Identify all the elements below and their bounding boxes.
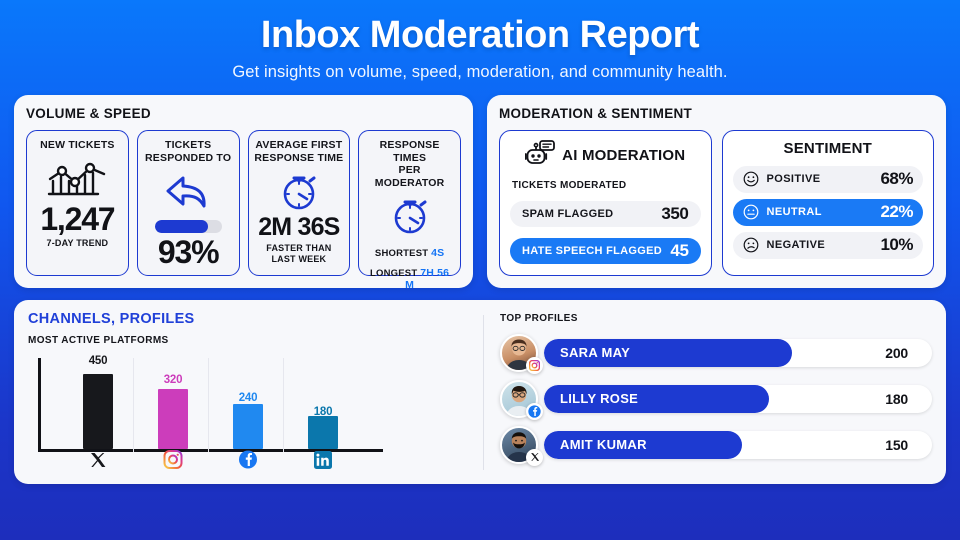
kpi-value: 1,247	[40, 203, 114, 235]
top-profiles-title: TOP PROFILES	[500, 313, 932, 324]
ai-moderation-card[interactable]: AI MODERATION TICKETS MODERATED SPAM FLA…	[499, 130, 712, 276]
channels-title: CHANNELS, PROFILES	[28, 311, 483, 327]
sentiment-label: NEUTRAL	[767, 206, 822, 218]
chart-gridline	[283, 358, 284, 452]
x-twitter-icon[interactable]	[89, 451, 107, 474]
page-title: Inbox Moderation Report	[0, 16, 960, 56]
kpi-foot-line2: LAST WEEK	[266, 254, 331, 265]
avatar	[500, 334, 538, 372]
reply-arrow-icon	[164, 169, 212, 214]
moderation-sentiment-cards: AI MODERATION TICKETS MODERATED SPAM FLA…	[499, 130, 934, 276]
sentiment-card[interactable]: SENTIMENT POSITIVE 68%	[722, 130, 935, 276]
kpi-value: 93%	[158, 236, 218, 268]
kpi-card-tickets-responded[interactable]: TICKETS RESPONDED TO 93%	[137, 130, 240, 276]
profile-score-bar[interactable]: AMIT KUMAR 150	[544, 431, 932, 459]
kpi-label-line1: RESPONSE TIMES	[364, 139, 455, 165]
x-twitter-icon	[526, 449, 543, 466]
instagram-icon[interactable]	[164, 450, 183, 474]
sentiment-row-neutral[interactable]: NEUTRAL 22%	[733, 199, 924, 226]
panel-divider	[483, 315, 484, 470]
spam-flagged-value: 350	[661, 204, 688, 224]
sentiment-value: 68%	[880, 169, 913, 189]
neutral-face-icon	[743, 204, 759, 220]
kpi-label-line1: AVERAGE FIRST	[254, 139, 343, 152]
top-profiles-section: TOP PROFILES	[500, 311, 932, 474]
kpi-card-avg-first-response[interactable]: AVERAGE FIRST RESPONSE TIME	[248, 130, 351, 276]
kpi-value: 2M 36S	[258, 215, 339, 240]
kpi-label-line2: PER MODERATOR	[364, 164, 455, 190]
chart-gridline	[133, 358, 134, 452]
kpi-footnote: 7-DAY TREND	[47, 238, 109, 249]
linkedin-icon[interactable]	[314, 451, 332, 474]
sentiment-row-positive[interactable]: POSITIVE 68%	[733, 166, 924, 193]
list-item[interactable]: LILLY ROSE 180	[500, 380, 932, 418]
sentiment-value: 10%	[880, 235, 913, 255]
profile-name: LILLY ROSE	[560, 391, 638, 406]
response-progress-bar	[155, 220, 222, 233]
chart-bar-value: 180	[314, 406, 333, 418]
robot-chat-icon	[525, 140, 555, 172]
profile-bar-fill: AMIT KUMAR	[544, 431, 742, 459]
kpi-foot-line1: FASTER THAN	[266, 243, 331, 254]
spam-flagged-label: SPAM FLAGGED	[522, 208, 613, 220]
ai-moderation-header: AI MODERATION	[510, 140, 701, 172]
volume-speed-title: VOLUME & SPEED	[26, 106, 461, 121]
avatar	[500, 426, 538, 464]
stopwatch-icon	[389, 195, 431, 237]
most-active-platforms-chart: 450 320 240 180	[38, 356, 383, 474]
profile-bar-fill: LILLY ROSE	[544, 385, 769, 413]
chart-bar-instagram[interactable]	[158, 389, 188, 449]
page-subtitle: Get insights on volume, speed, moderatio…	[0, 63, 960, 82]
sentiment-label: NEGATIVE	[767, 239, 826, 251]
shortest-label: SHORTEST	[375, 248, 428, 259]
longest-label: LONGEST	[370, 268, 417, 279]
profile-bar-fill: SARA MAY	[544, 339, 792, 367]
facebook-icon[interactable]	[239, 450, 258, 474]
bar-chart-trend-icon	[46, 157, 108, 203]
volume-speed-panel: VOLUME & SPEED NEW TICKETS	[14, 95, 473, 288]
profile-score-bar[interactable]: LILLY ROSE 180	[544, 385, 932, 413]
chart-y-axis	[38, 358, 41, 452]
chart-bar-facebook[interactable]	[233, 404, 263, 449]
sentiment-label: POSITIVE	[767, 173, 821, 185]
profile-name: SARA MAY	[560, 345, 630, 360]
instagram-icon	[526, 357, 543, 374]
hate-speech-flagged-value: 45	[670, 241, 688, 261]
chart-bar-x[interactable]	[83, 374, 113, 450]
sentiment-row-negative[interactable]: NEGATIVE 10%	[733, 232, 924, 259]
profile-value: 180	[885, 391, 908, 407]
moderation-sentiment-panel: MODERATION & SENTIMENT	[487, 95, 946, 288]
profile-name: AMIT KUMAR	[560, 437, 647, 452]
sentiment-value: 22%	[880, 202, 913, 222]
shortest-response-row: SHORTEST 4S	[375, 247, 444, 259]
sentiment-title: SENTIMENT	[733, 140, 924, 157]
kpi-label-line2: RESPONSE TIME	[254, 152, 343, 165]
frown-face-icon	[743, 237, 759, 253]
kpi-card-response-per-moderator[interactable]: RESPONSE TIMES PER MODERATOR	[358, 130, 461, 276]
top-panels-row: VOLUME & SPEED NEW TICKETS	[0, 95, 960, 288]
smile-face-icon	[743, 171, 759, 187]
facebook-icon	[526, 403, 543, 420]
kpi-label-line2: RESPONDED TO	[145, 152, 231, 165]
most-active-platforms-label: MOST ACTIVE PLATFORMS	[28, 335, 483, 346]
longest-response-row: LONGEST 7H 56 M	[364, 267, 455, 291]
kpi-label-line1: TICKETS	[145, 139, 231, 152]
chart-bar-linkedin[interactable]	[308, 416, 338, 450]
shortest-value: 4S	[431, 247, 444, 259]
channels-section: CHANNELS, PROFILES MOST ACTIVE PLATFORMS…	[28, 311, 483, 474]
moderation-sentiment-title: MODERATION & SENTIMENT	[499, 106, 934, 121]
list-item[interactable]: SARA MAY 200	[500, 334, 932, 372]
response-progress-fill	[155, 220, 209, 233]
profile-score-bar[interactable]: SARA MAY 200	[544, 339, 932, 367]
kpi-card-new-tickets[interactable]: NEW TICKETS	[26, 130, 129, 276]
chart-bar-value: 320	[164, 374, 183, 386]
avatar	[500, 380, 538, 418]
ai-moderation-title: AI MODERATION	[562, 147, 685, 164]
channels-profiles-panel: CHANNELS, PROFILES MOST ACTIVE PLATFORMS…	[14, 300, 946, 484]
kpi-label: NEW TICKETS	[40, 139, 115, 152]
tickets-moderated-label: TICKETS MODERATED	[512, 180, 701, 191]
profile-value: 150	[885, 437, 908, 453]
profile-value: 200	[885, 345, 908, 361]
hate-speech-flagged-row[interactable]: HATE SPEECH FLAGGED 45	[510, 238, 701, 264]
spam-flagged-row[interactable]: SPAM FLAGGED 350	[510, 201, 701, 227]
chart-gridline	[208, 358, 209, 452]
report-header: Inbox Moderation Report Get insights on …	[0, 0, 960, 82]
chart-bar-value: 450	[89, 355, 108, 367]
kpi-card-list: NEW TICKETS	[26, 130, 461, 276]
stopwatch-icon	[278, 169, 320, 215]
list-item[interactable]: AMIT KUMAR 150	[500, 426, 932, 464]
chart-plot-area: 450 320 240 180	[38, 356, 383, 452]
hate-speech-flagged-label: HATE SPEECH FLAGGED	[522, 245, 662, 257]
chart-bar-value: 240	[239, 392, 258, 404]
